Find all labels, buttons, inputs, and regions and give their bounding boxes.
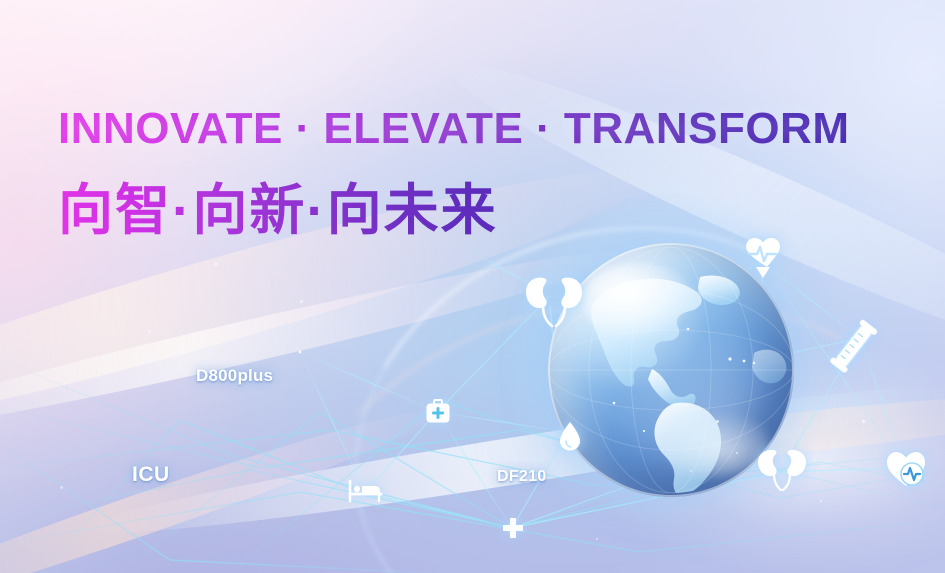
- medical-kit-icon: [424, 398, 452, 426]
- hospital-bed-icon: [348, 478, 384, 504]
- medical-cross-icon: [501, 517, 525, 541]
- blood-drop-icon: [558, 420, 582, 452]
- kidneys-icon: [756, 446, 808, 494]
- page-title: INNOVATE · ELEVATE · TRANSFORM: [58, 104, 850, 154]
- heart-ecg-icon: [885, 450, 929, 490]
- product-label-df210: DF210: [497, 468, 547, 486]
- heart-pulse-icon: [740, 236, 786, 280]
- sparkle-particle: [736, 452, 738, 454]
- sparkle-particle: [596, 538, 598, 540]
- sparkle-particle: [60, 486, 63, 489]
- sparkle-particle: [862, 420, 865, 423]
- sparkle-particle: [148, 330, 151, 333]
- kidneys-icon: [522, 272, 586, 332]
- product-label-d800plus: D800plus: [196, 366, 273, 386]
- sparkle-particle: [300, 300, 303, 303]
- page-subtitle: 向智·向新·向未来: [58, 165, 498, 245]
- sparkle-particle: [690, 470, 692, 472]
- promo-banner: INNOVATE · ELEVATE · TRANSFORM 向智·向新·向未来…: [0, 0, 945, 573]
- product-label-icu: ICU: [132, 463, 170, 487]
- sparkle-particle: [214, 262, 218, 266]
- sparkle-particle: [820, 500, 822, 502]
- sparkle-particle: [716, 420, 719, 423]
